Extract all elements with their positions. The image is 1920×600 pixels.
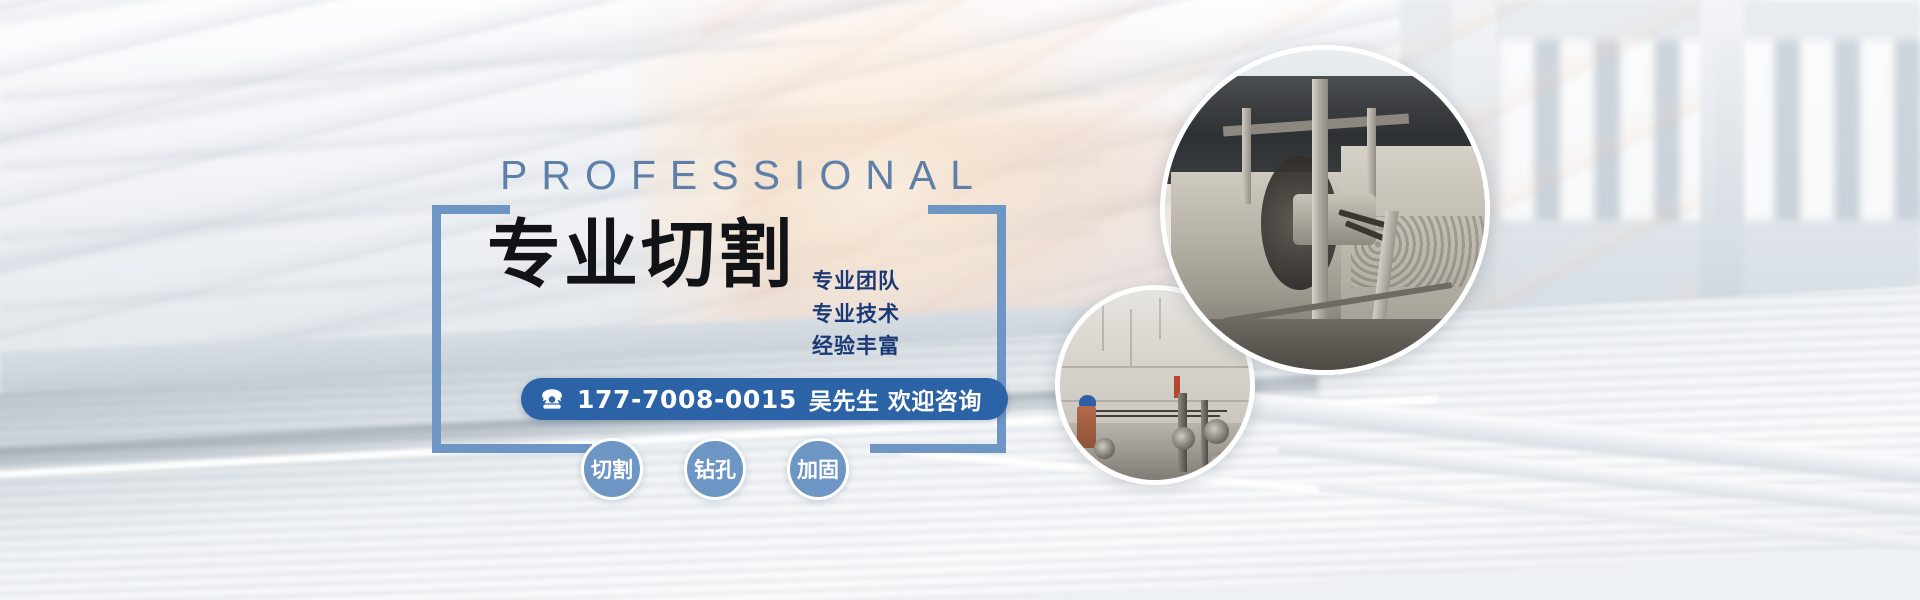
saw-pulley (1094, 438, 1115, 459)
frame-bracket-bottom-right (870, 444, 1006, 453)
contact-phone-bar[interactable]: 177-7008-0015 吴先生 欢迎咨询 (521, 378, 1008, 420)
page-title: 专业切割 (487, 218, 795, 292)
feature-item: 专业团队 (812, 268, 900, 296)
promotional-banner: PROFESSIONAL 专业切割 专业团队 专业技术 经验丰富 177-700… (0, 0, 1920, 600)
frame-bracket-top-right (928, 205, 1006, 214)
feature-list: 专业团队 专业技术 经验丰富 (812, 268, 900, 361)
saw-pulley (1204, 419, 1229, 444)
saw-pulley (1172, 427, 1195, 450)
frame-bracket-bottom-left (432, 444, 592, 453)
eyebrow-heading: PROFESSIONAL (500, 152, 987, 199)
background-scene (0, 0, 1920, 600)
feature-item: 专业技术 (812, 301, 900, 329)
telephone-icon (539, 387, 565, 411)
worker-body (1077, 406, 1096, 448)
wall-crack (1130, 309, 1132, 366)
service-badge-cutting[interactable]: 切割 (581, 438, 643, 500)
beam-underside (1165, 319, 1485, 370)
support-post (1367, 108, 1377, 204)
service-badge-drilling[interactable]: 钻孔 (684, 438, 746, 500)
phone-number: 177-7008-0015 (577, 385, 797, 414)
photo-inner-large (1165, 50, 1485, 370)
service-badge-reinforcement[interactable]: 加固 (787, 438, 849, 500)
photo-concrete-saw-cutting-beam (1160, 45, 1490, 375)
frame-bracket-left (432, 205, 441, 453)
feature-item: 经验丰富 (812, 333, 900, 361)
wall-crack (1102, 301, 1104, 350)
support-post (1242, 108, 1252, 204)
contact-person-cta: 吴先生 欢迎咨询 (809, 382, 982, 416)
wall-crack (1159, 298, 1161, 340)
